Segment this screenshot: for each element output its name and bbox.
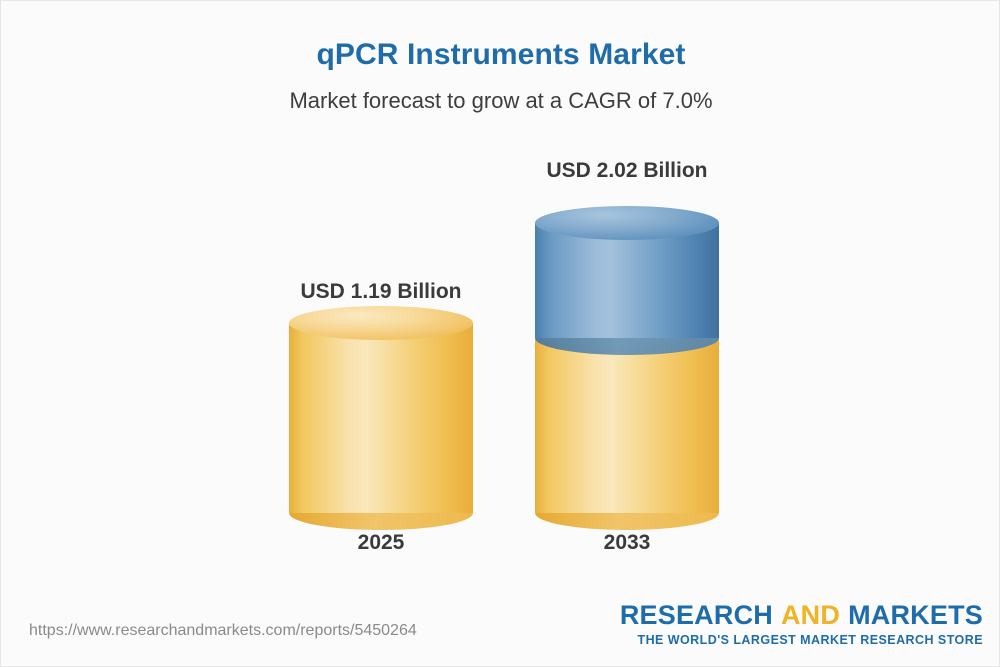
logo-tagline: THE WORLD'S LARGEST MARKET RESEARCH STOR… [620,629,983,647]
chart-plot-area: USD 1.19 Billion 2025 USD 2.02 Billion [1,1,1000,667]
cylinder-body [535,338,719,513]
bar-segment-growth-2033 [535,223,719,338]
cylinder-top-cap [289,306,473,340]
cylinder-body [535,223,719,338]
bar-segment-base-2033 [535,338,719,513]
cylinder-body [289,323,473,513]
research-and-markets-logo[interactable]: RESEARCHANDMARKETS THE WORLD'S LARGEST M… [620,601,983,647]
bar-value-label-2033: USD 2.02 Billion [535,159,719,183]
source-url[interactable]: https://www.researchandmarkets.com/repor… [29,622,417,640]
logo-word-and: AND [781,600,840,630]
chart-canvas: qPCR Instruments Market Market forecast … [0,0,1000,667]
logo-wordmark: RESEARCHANDMARKETS [620,601,983,629]
cylinder-top-cap [535,206,719,240]
bar-segment-base-2025 [289,323,473,513]
bar-value-label-2025: USD 1.19 Billion [289,280,473,304]
category-label-2025: 2025 [289,531,473,555]
logo-word-research: RESEARCH [620,600,773,630]
logo-word-markets: MARKETS [848,600,983,630]
category-label-2033: 2033 [535,531,719,555]
